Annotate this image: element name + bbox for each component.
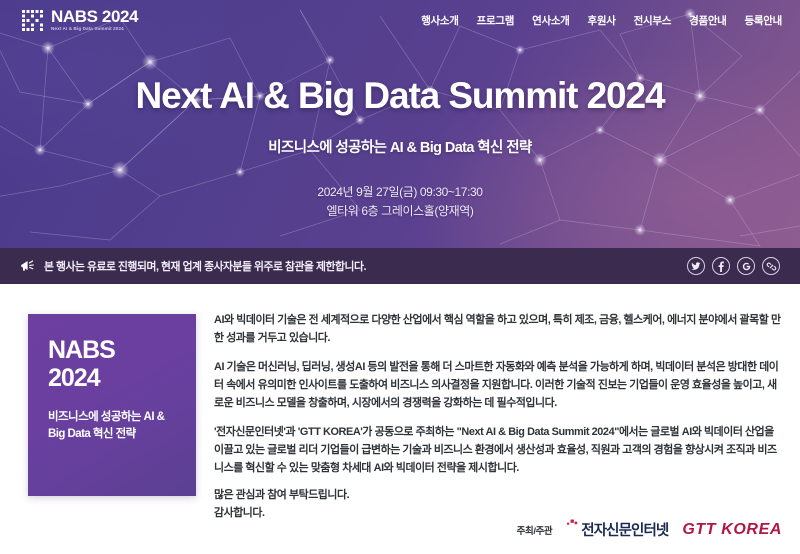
notice-bar: 본 행사는 유료로 진행되며, 현재 업계 종사자분들 위주로 참관을 제한합니… [0, 248, 800, 284]
etnews-mark-icon [566, 519, 579, 531]
hero-subtitle: 비즈니스에 성공하는 AI & Big Data 혁신 전략 [0, 136, 800, 157]
nav-item-booths[interactable]: 전시부스 [634, 13, 671, 28]
paragraph-3: '전자신문인터넷'과 'GTT KOREA'가 공동으로 주최하는 "Next … [214, 424, 784, 477]
host-logos: 주최/주관 전자신문인터넷 GTT KOREA [517, 519, 782, 540]
megaphone-icon [20, 260, 35, 273]
hero-date: 2024년 9월 27일(금) 09:30~17:30 [0, 183, 800, 202]
hero-event-details: 2024년 9월 27일(금) 09:30~17:30 엘타워 6층 그레이스홀… [0, 183, 800, 222]
hero-venue: 엘타워 6층 그레이스홀(양재역) [0, 202, 800, 221]
notice-text: 본 행사는 유료로 진행되며, 현재 업계 종사자분들 위주로 참관을 제한합니… [44, 258, 366, 274]
google-icon[interactable] [737, 257, 755, 275]
paragraph-4: 많은 관심과 참여 부탁드립니다. 감사합니다. [214, 487, 784, 522]
host-label: 주최/주관 [517, 523, 553, 537]
main-content: NABS 2024 비즈니스에 성공하는 AI & Big Data 혁신 전략… [0, 284, 800, 554]
link-icon[interactable] [762, 257, 780, 275]
card-title: NABS 2024 [48, 336, 179, 393]
dot-matrix-icon [21, 9, 44, 32]
nav-item-about[interactable]: 행사소개 [421, 13, 458, 28]
nav-item-sponsors[interactable]: 후원사 [588, 13, 616, 28]
gtt-korea-logo[interactable]: GTT KOREA [682, 521, 782, 539]
logo-text-block: NABS 2024 Next AI & Big Data Summit 2024 [51, 8, 138, 33]
nav-item-program[interactable]: 프로그램 [477, 13, 514, 28]
card-subtitle: 비즈니스에 성공하는 AI & Big Data 혁신 전략 [48, 409, 179, 443]
site-logo[interactable]: NABS 2024 Next AI & Big Data Summit 2024 [21, 8, 138, 33]
facebook-icon[interactable] [712, 257, 730, 275]
logo-subtitle: Next AI & Big Data Summit 2024 [51, 27, 138, 32]
intro-article: AI와 빅데이터 기술은 전 세계적으로 다양한 산업에서 핵심 역할을 하고 … [214, 312, 784, 535]
hero-title: Next AI & Big Data Summit 2024 [0, 75, 800, 117]
logo-title: NABS 2024 [51, 8, 138, 25]
nav-item-prizes[interactable]: 경품안내 [689, 13, 726, 28]
top-navigation-bar: NABS 2024 Next AI & Big Data Summit 2024… [0, 0, 800, 40]
main-nav: 행사소개 프로그램 연사소개 후원사 전시부스 경품안내 등록안내 [421, 13, 782, 28]
etnews-logo[interactable]: 전자신문인터넷 [566, 519, 668, 540]
social-links [687, 257, 780, 275]
hero-banner: NABS 2024 Next AI & Big Data Summit 2024… [0, 0, 800, 248]
nav-item-speakers[interactable]: 연사소개 [532, 13, 569, 28]
etnews-logo-text: 전자신문인터넷 [581, 519, 668, 540]
page-root: NABS 2024 Next AI & Big Data Summit 2024… [0, 0, 800, 554]
event-summary-card: NABS 2024 비즈니스에 성공하는 AI & Big Data 혁신 전략 [28, 314, 196, 496]
nav-item-register[interactable]: 등록안내 [745, 13, 782, 28]
paragraph-2: AI 기술은 머신러닝, 딥러닝, 생성AI 등의 발전을 통해 더 스마트한 … [214, 359, 784, 412]
paragraph-1: AI와 빅데이터 기술은 전 세계적으로 다양한 산업에서 핵심 역할을 하고 … [214, 312, 784, 347]
closing-line-1: 많은 관심과 참여 부탁드립니다. [214, 487, 784, 505]
twitter-icon[interactable] [687, 257, 705, 275]
